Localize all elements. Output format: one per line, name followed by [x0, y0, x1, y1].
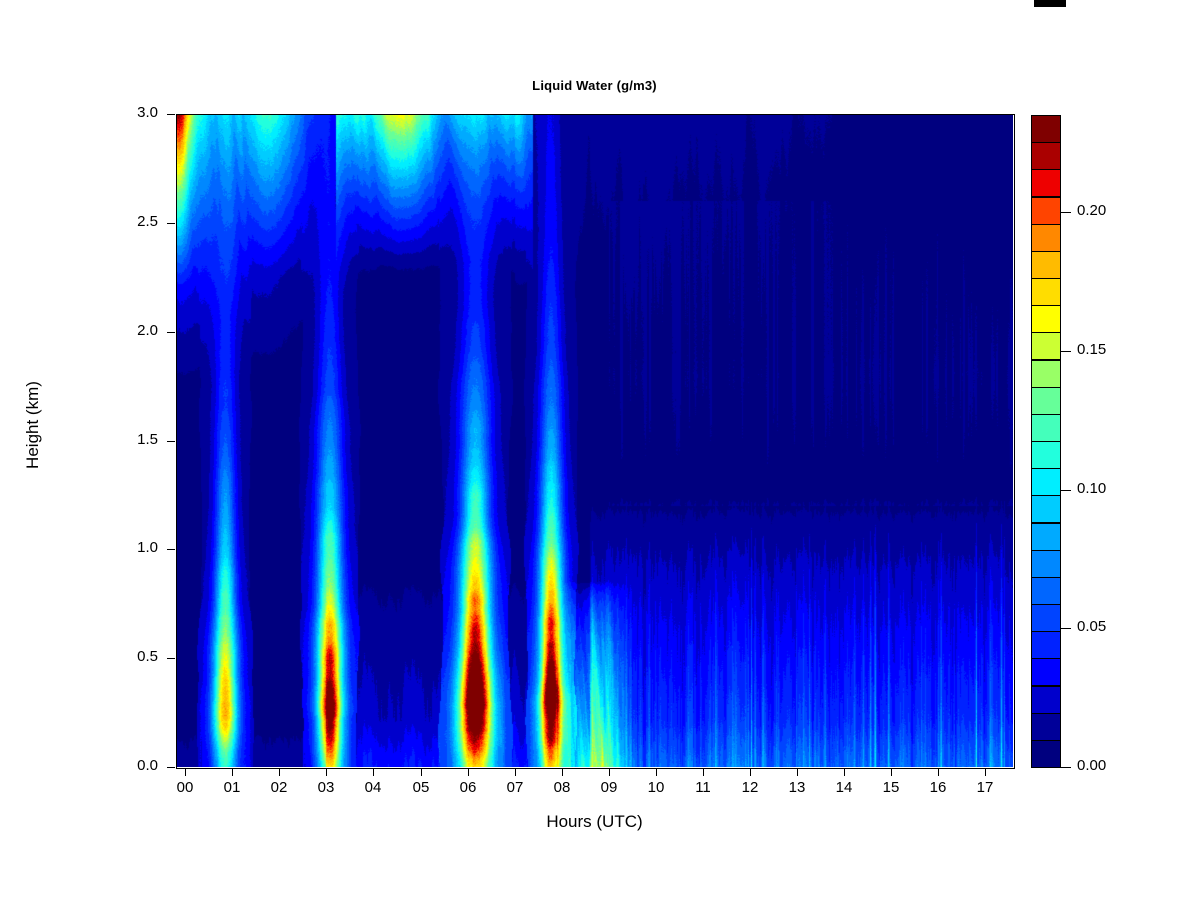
colorbar-tick: [1061, 351, 1071, 352]
x-axis-title: Hours (UTC): [176, 812, 1013, 832]
colorbar: [1031, 115, 1061, 767]
colorbar-band: [1031, 332, 1061, 360]
y-axis-tick: [167, 767, 175, 768]
x-axis-tick: [656, 768, 657, 776]
x-axis-tick: [373, 768, 374, 776]
x-axis-tick: [797, 768, 798, 776]
x-axis-tick: [232, 768, 233, 776]
x-axis-tick-label: 05: [401, 779, 441, 796]
y-axis-tick-label: 2.5: [100, 213, 158, 230]
colorbar-tick: [1061, 212, 1071, 213]
x-axis-tick-label: 06: [448, 779, 488, 796]
x-axis-tick: [562, 768, 563, 776]
colorbar-band: [1031, 686, 1061, 714]
x-axis-tick-label: 15: [871, 779, 911, 796]
y-axis-tick-label: 1.5: [100, 431, 158, 448]
x-axis-tick-label: 09: [589, 779, 629, 796]
colorbar-band: [1031, 577, 1061, 605]
x-axis-tick-label: 14: [824, 779, 864, 796]
y-axis-tick: [167, 441, 175, 442]
x-axis-tick: [609, 768, 610, 776]
colorbar-tick: [1061, 767, 1071, 768]
x-axis-tick-label: 04: [353, 779, 393, 796]
x-axis-tick: [985, 768, 986, 776]
y-axis-tick-label: 1.0: [100, 539, 158, 556]
x-axis-tick-label: 10: [636, 779, 676, 796]
colorbar-tick-label: 0.10: [1077, 480, 1106, 497]
x-axis-tick-label: 02: [259, 779, 299, 796]
y-axis-tick-label: 0.0: [100, 757, 158, 774]
colorbar-band: [1031, 468, 1061, 496]
y-axis-tick-label: 3.0: [100, 104, 158, 121]
x-axis-tick-label: 03: [306, 779, 346, 796]
liquid-water-heatmap-canvas: [176, 114, 1013, 767]
colorbar-band: [1031, 740, 1061, 768]
x-axis-tick-label: 12: [730, 779, 770, 796]
x-axis-tick-label: 13: [777, 779, 817, 796]
colorbar-band: [1031, 604, 1061, 632]
colorbar-band: [1031, 523, 1061, 551]
colorbar-band: [1031, 631, 1061, 659]
y-axis-tick: [167, 549, 175, 550]
colorbar-band: [1031, 360, 1061, 388]
x-axis-tick: [891, 768, 892, 776]
heatmap-plot-area: [176, 114, 1013, 767]
colorbar-band: [1031, 387, 1061, 415]
x-axis-tick-label: 00: [165, 779, 205, 796]
colorbar-band: [1031, 115, 1061, 143]
colorbar-tick-label: 0.00: [1077, 757, 1106, 774]
x-axis-tick-label: 17: [965, 779, 1005, 796]
x-axis-tick-label: 11: [683, 779, 723, 796]
colorbar-tick: [1061, 490, 1071, 491]
x-axis-tick-label: 01: [212, 779, 252, 796]
x-axis-tick-label: 08: [542, 779, 582, 796]
x-axis-tick: [185, 768, 186, 776]
y-axis-tick: [167, 114, 175, 115]
x-axis-tick: [279, 768, 280, 776]
colorbar-band: [1031, 713, 1061, 741]
colorbar-tick: [1061, 628, 1071, 629]
colorbar-tick-label: 0.20: [1077, 202, 1106, 219]
x-axis-tick: [421, 768, 422, 776]
colorbar-band: [1031, 169, 1061, 197]
y-axis-title: Height (km): [23, 355, 43, 495]
colorbar-band: [1031, 550, 1061, 578]
colorbar-band: [1031, 278, 1061, 306]
y-axis-tick: [167, 332, 175, 333]
y-axis-tick-label: 2.0: [100, 322, 158, 339]
colorbar-band: [1031, 495, 1061, 523]
y-axis-tick: [167, 658, 175, 659]
x-axis-tick-label: 16: [918, 779, 958, 796]
x-axis-tick: [703, 768, 704, 776]
y-axis-tick: [167, 223, 175, 224]
x-axis-tick: [750, 768, 751, 776]
x-axis-tick: [468, 768, 469, 776]
colorbar-band: [1031, 224, 1061, 252]
x-axis-tick: [844, 768, 845, 776]
colorbar-tick-label: 0.15: [1077, 341, 1106, 358]
x-axis-tick-label: 07: [495, 779, 535, 796]
x-axis-tick: [938, 768, 939, 776]
colorbar-tick-label: 0.05: [1077, 618, 1106, 635]
colorbar-band: [1031, 251, 1061, 279]
colorbar-band: [1031, 305, 1061, 333]
colorbar-band: [1031, 197, 1061, 225]
contour-plot-figure: Liquid Water (g/m3) 00010203040506070809…: [0, 0, 1200, 900]
colorbar-band: [1031, 658, 1061, 686]
colorbar-band: [1031, 142, 1061, 170]
colorbar-band: [1031, 414, 1061, 442]
colorbar-band: [1031, 441, 1061, 469]
page-title: Liquid Water (g/m3): [176, 78, 1013, 93]
y-axis-tick-label: 0.5: [100, 648, 158, 665]
x-axis-tick: [326, 768, 327, 776]
x-axis-tick: [515, 768, 516, 776]
render-artifact-bar: [1034, 0, 1066, 7]
